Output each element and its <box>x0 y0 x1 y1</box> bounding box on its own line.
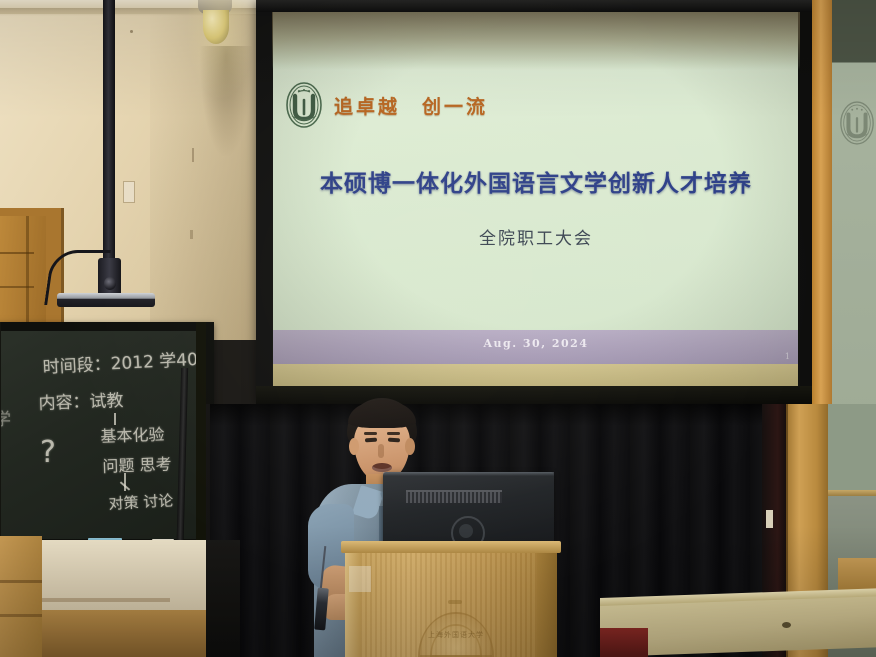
wall-switch[interactable] <box>766 510 773 528</box>
podium-label <box>349 566 371 592</box>
wall-plate <box>124 182 134 202</box>
slide-title: 本硕博一体化外国语言文学创新人才培养 <box>272 164 800 198</box>
light-cast-shadow <box>200 46 252 156</box>
wall-blemish <box>192 148 194 162</box>
podium-right-edge <box>537 553 557 657</box>
mouth <box>372 463 392 472</box>
cabinet-seam <box>0 580 42 583</box>
university-emblem-icon <box>838 98 876 148</box>
right-wall-panel <box>832 0 876 418</box>
ear-left <box>349 438 359 455</box>
eye-right <box>388 438 400 443</box>
slide-slogan: 追卓越 创一流 <box>334 92 488 119</box>
eyebrow-left <box>364 432 377 435</box>
stage-left-lower <box>206 540 240 657</box>
slide-subtitle: 全院职工大会 <box>272 224 800 249</box>
cabinet-seam <box>0 614 42 617</box>
eye-left <box>365 438 377 443</box>
eyebrow-right <box>387 432 400 435</box>
table-cloth <box>600 628 648 657</box>
podium-engraving-mark <box>448 600 462 604</box>
carved-seal-text: 上海外国语大学 <box>418 630 494 640</box>
side-cabinet <box>0 536 42 657</box>
right-wood-pillar <box>812 0 834 418</box>
presentation-slide: 追卓越 创一流 本硕博一体化外国语言文学创新人才培养 全院职工大会 Aug. 3… <box>272 12 800 386</box>
screen-frame-left <box>256 0 273 404</box>
slide-date: Aug. 30, 2024 <box>272 337 800 350</box>
monitor-top-highlight <box>383 472 554 476</box>
ceiling-strip-shadow <box>0 8 300 16</box>
right-wall-rail <box>828 490 876 496</box>
hair-fringe <box>348 400 416 428</box>
ceiling-light-icon <box>203 10 229 44</box>
ear-right <box>405 438 415 455</box>
university-emblem-icon <box>284 80 324 130</box>
slide-page-number: 1 <box>785 352 790 361</box>
wall-blemish <box>130 30 133 33</box>
slide-footer-band <box>272 364 800 386</box>
lecture-hall-photo: 时间段：2012 学40 内容：试教 基本化验 问题 思考 对策 讨论 学 ? <box>0 0 876 657</box>
wall-blemish <box>190 230 193 239</box>
projector-lens-icon <box>104 277 116 290</box>
monitor-vent <box>406 490 502 503</box>
nose <box>378 444 384 458</box>
table-object <box>782 622 791 628</box>
blackboard <box>0 331 206 539</box>
camera-bar <box>57 293 155 307</box>
blackboard-post-right <box>196 322 206 557</box>
monitor-mount-center <box>459 524 473 538</box>
podium-top-edge <box>341 541 561 553</box>
blackboard-post-left <box>0 322 1 554</box>
screen-frame-top <box>256 0 814 12</box>
